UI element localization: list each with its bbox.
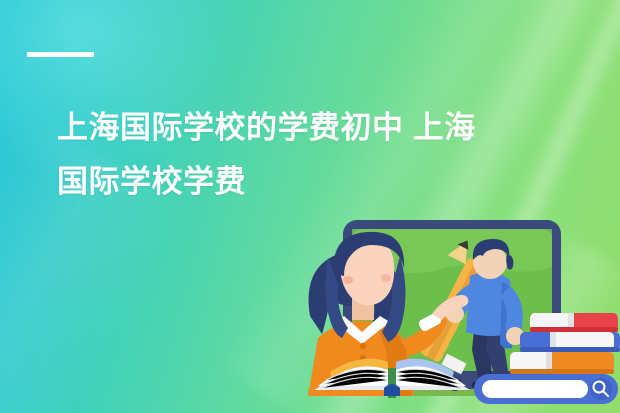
page-title-line-1: 上海国际学校的学费初中 上海: [57, 101, 557, 155]
page-title: 上海国际学校的学费初中 上海 国际学校学费: [57, 101, 557, 209]
search-input: [482, 380, 588, 398]
search-bar: [474, 374, 618, 404]
banner-card: 上海国际学校的学费初中 上海 国际学校学费: [0, 0, 620, 413]
accent-dash: [27, 52, 94, 57]
education-illustration: [288, 212, 620, 413]
page-title-line-2: 国际学校学费: [57, 155, 557, 209]
